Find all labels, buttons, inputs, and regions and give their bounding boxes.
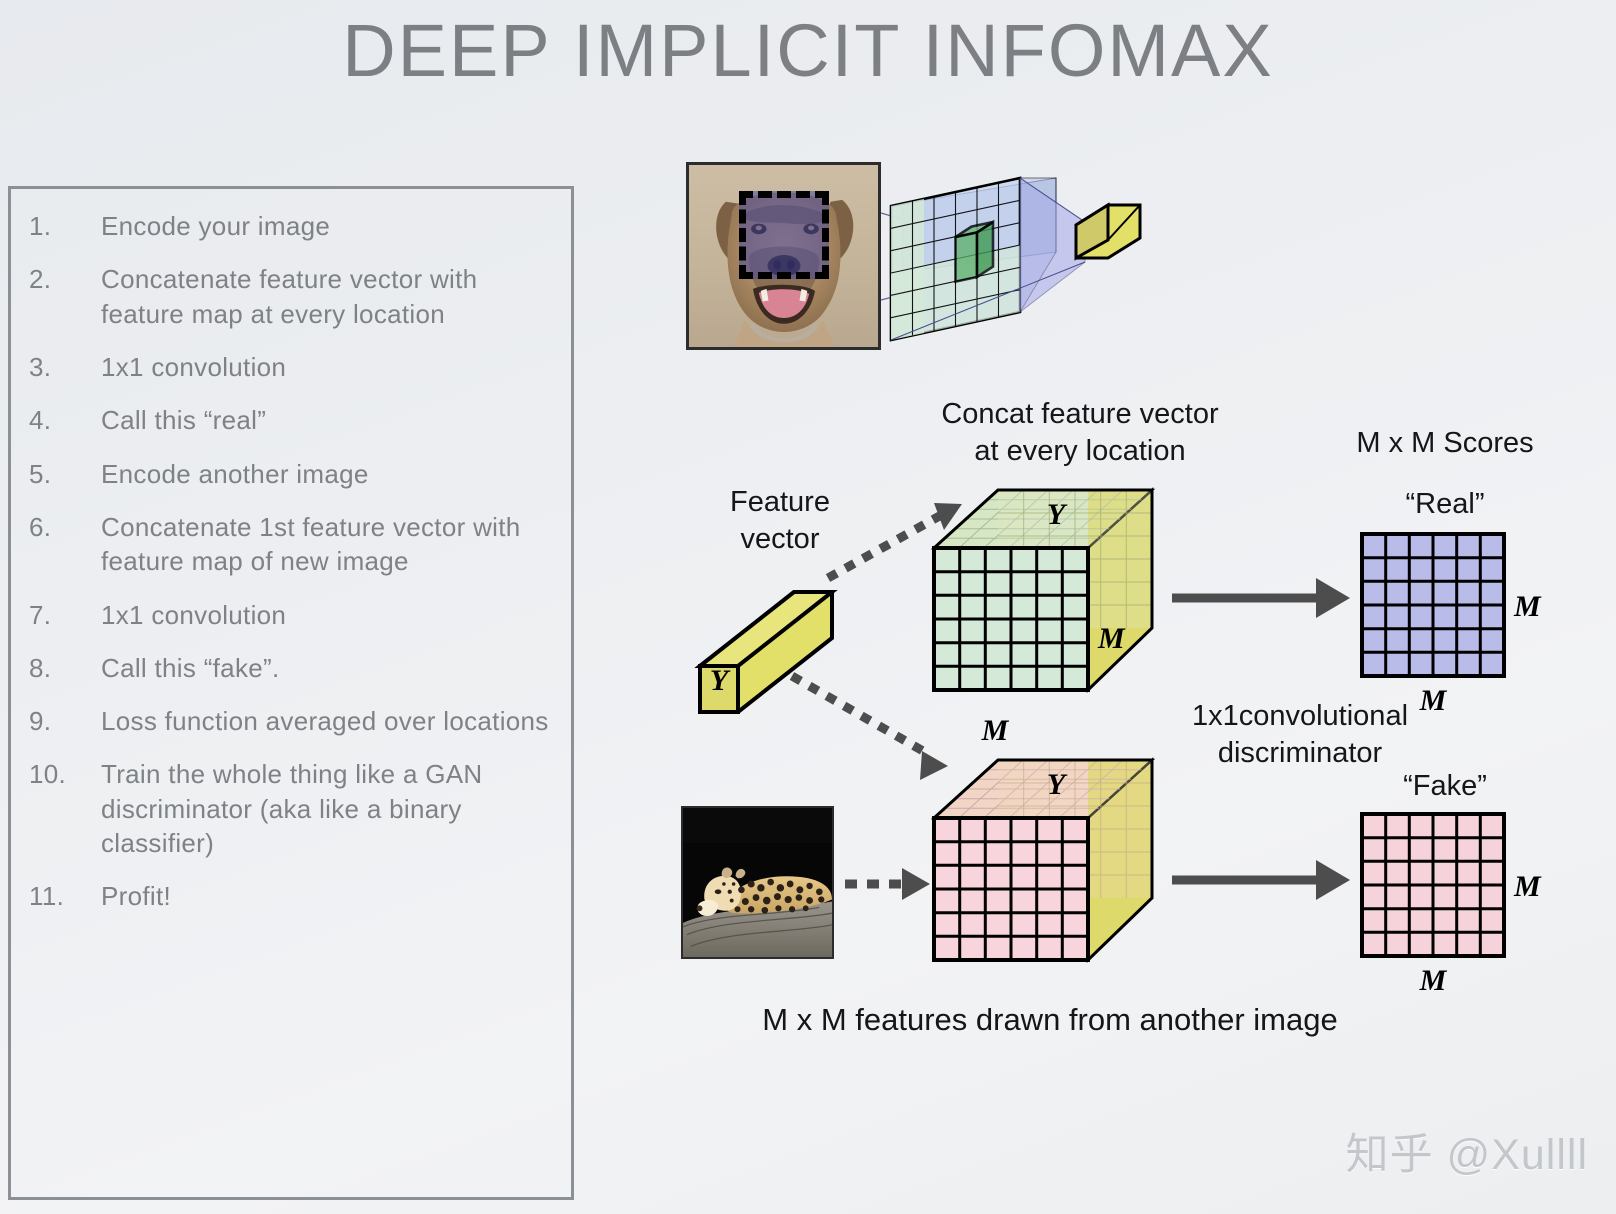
discriminator-label-line1: 1x1convolutional [1135,698,1465,735]
list-item-label: Encode another image [101,457,559,491]
feature-vector-label: Feature vector [700,484,860,558]
real-label: “Real” [1300,486,1590,523]
list-item: 3. 1x1 convolution [23,350,559,384]
svg-text:Y: Y [710,664,731,697]
page-title: DEEP IMPLICIT INFOMAX [0,8,1616,93]
discriminator-label: 1x1convolutional discriminator [1135,698,1465,772]
fake-label: “Fake” [1300,768,1590,805]
list-item-label: Encode your image [101,209,559,243]
real-scores-grid [1362,534,1504,676]
leopard-image [683,808,832,957]
leopard-photo [681,806,834,959]
list-item-number: 4. [23,403,101,437]
list-item: 4. Call this “real” [23,403,559,437]
list-item: 6. Concatenate 1st feature vector with f… [23,510,559,579]
green-cube-M-right: M [1097,622,1126,655]
arrow-real [1172,578,1350,618]
list-item-label: Concatenate feature vector with feature … [101,262,559,331]
real-grid-M-right: M [1513,590,1542,623]
scores-title-label: M x M Scores [1300,425,1590,462]
list-item: 5. Encode another image [23,457,559,491]
list-item-label: Call this “real” [101,403,559,437]
list-item: 9. Loss function averaged over locations [23,704,559,738]
pink-feature-cube: Y [934,760,1152,960]
dog-photo [686,162,881,350]
list-item-number: 9. [23,704,101,738]
green-cube-M-bottom: M [981,714,1010,747]
svg-text:Y: Y [1047,498,1068,531]
feature-vector-label-line1: Feature [700,484,860,521]
bottom-caption: M x M features drawn from another image [700,1000,1400,1040]
svg-text:Y: Y [1047,768,1068,801]
list-item-label: 1x1 convolution [101,598,559,632]
list-item: 2. Concatenate feature vector with featu… [23,262,559,331]
list-item-number: 7. [23,598,101,632]
concat-label-line1: Concat feature vector [880,396,1280,433]
list-item: 10. Train the whole thing like a GAN dis… [23,757,559,860]
dotted-arrow-to-pink-cube [792,676,930,755]
feature-vector-label-line2: vector [700,521,860,558]
fake-scores-grid [1362,814,1504,956]
list-item-label: Loss function averaged over locations [101,704,559,738]
discriminator-label-line2: discriminator [1135,735,1465,772]
list-item-number: 8. [23,651,101,685]
list-item-label: Concatenate 1st feature vector with feat… [101,510,559,579]
fake-grid-M-bottom: M [1419,964,1448,997]
list-item-number: 3. [23,350,101,384]
list-item-label: Profit! [101,879,559,913]
list-item: 11. Profit! [23,879,559,913]
list-item-number: 11. [23,879,101,913]
list-item-number: 5. [23,457,101,491]
list-item-label: Train the whole thing like a GAN discrim… [101,757,559,860]
list-item: 8. Call this “fake”. [23,651,559,685]
fake-grid-M-right: M [1513,870,1542,903]
watermark: 知乎 @Xullll [1346,1120,1588,1182]
list-item-number: 2. [23,262,101,296]
steps-panel: 1. Encode your image 2. Concatenate feat… [8,186,574,1200]
arrow-fake [1172,860,1350,900]
feature-vector-bar: Y [700,592,832,712]
list-item-label: 1x1 convolution [101,350,559,384]
concat-label-line2: at every location [880,433,1280,470]
list-item-number: 6. [23,510,101,544]
list-item-label: Call this “fake”. [101,651,559,685]
list-item: 1. Encode your image [23,209,559,243]
list-item-number: 10. [23,757,101,791]
concat-label: Concat feature vector at every location [880,396,1280,470]
green-feature-cube: Y [934,490,1152,690]
crop-patch [739,191,829,279]
list-item: 7. 1x1 convolution [23,598,559,632]
list-item-number: 1. [23,209,101,243]
